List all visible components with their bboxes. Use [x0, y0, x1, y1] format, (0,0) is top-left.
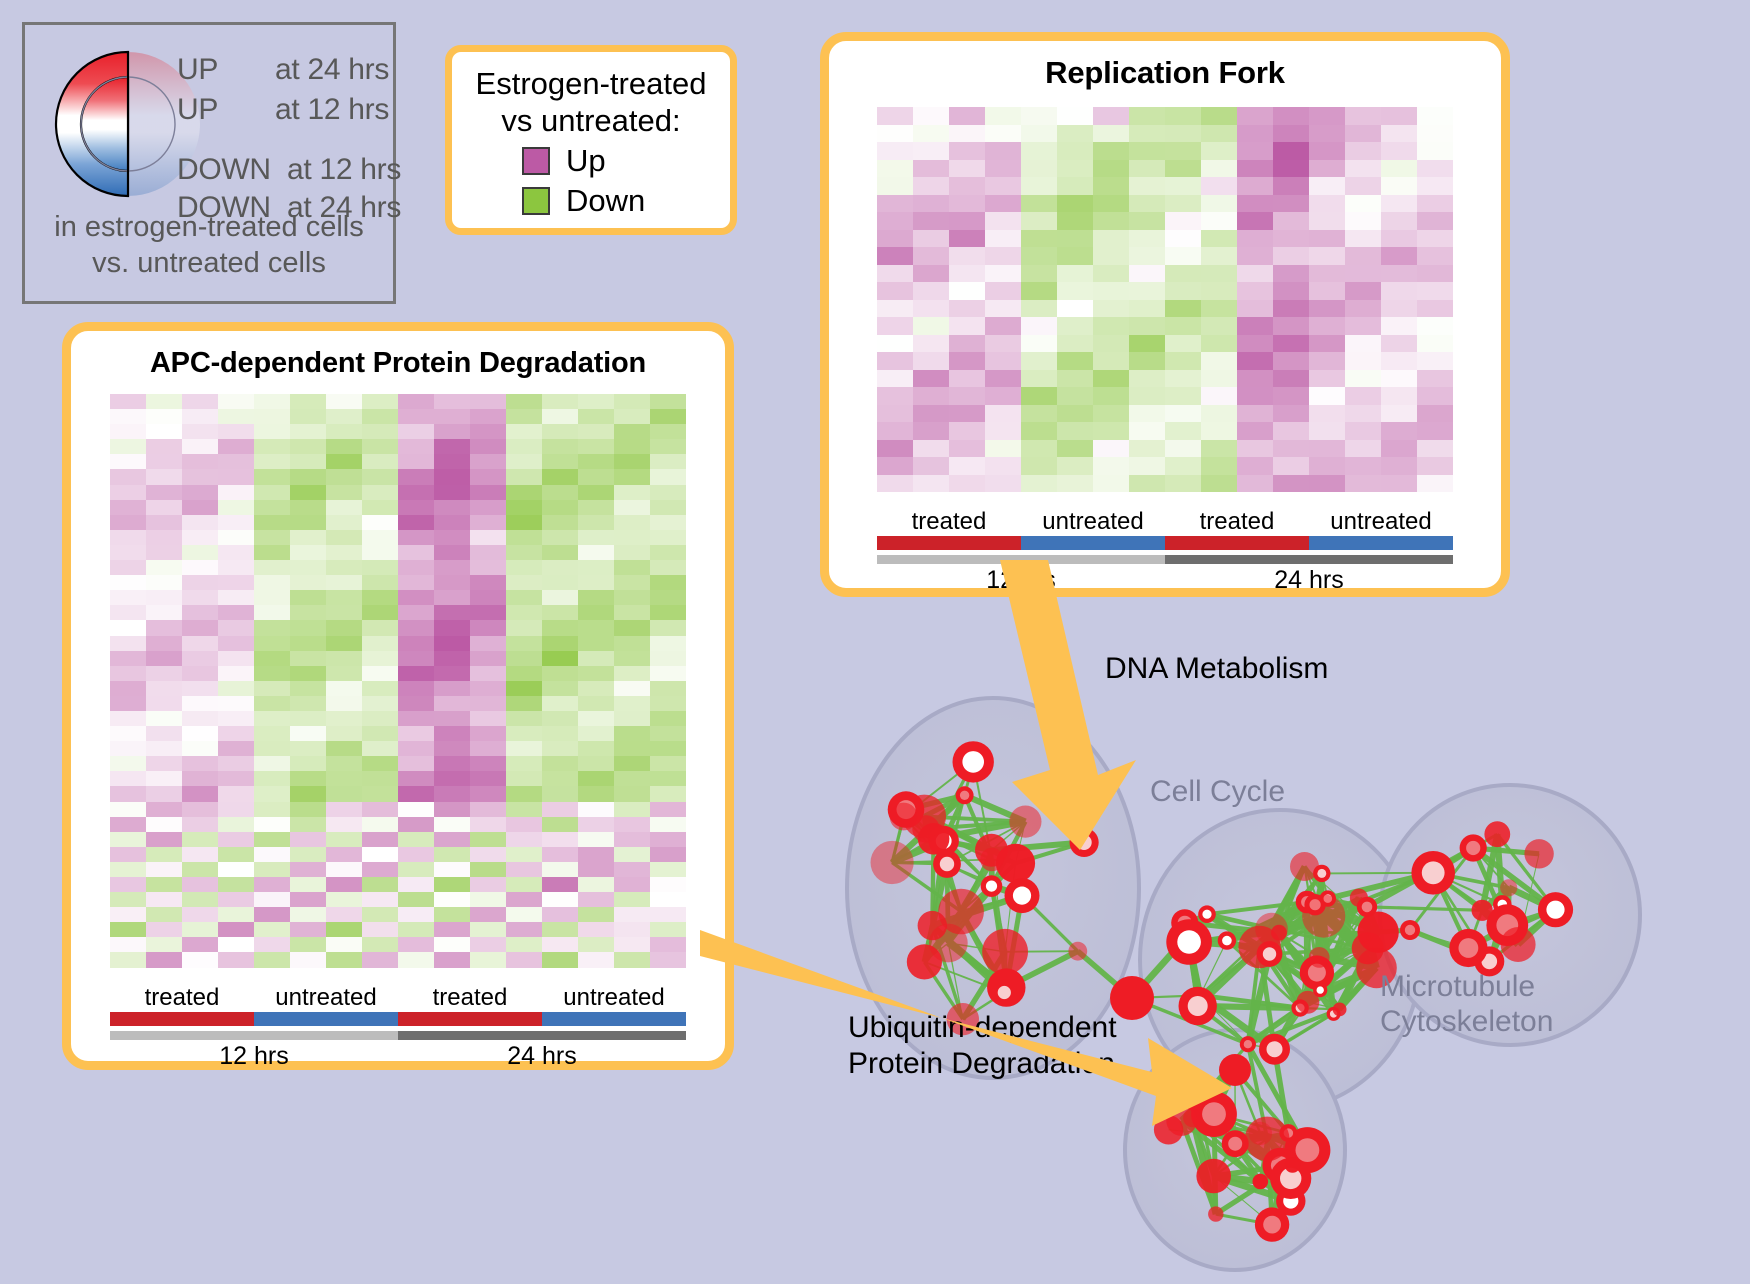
group-bar-untreated-24 — [542, 1012, 686, 1026]
axis-label-treated-24: treated — [1165, 508, 1309, 536]
axis-label-treated-24: treated — [398, 984, 542, 1012]
axis-apc: treated untreated treated untreated 12 h… — [110, 984, 686, 1071]
group-bar-treated-12 — [877, 536, 1021, 550]
legend-swatch-up-icon — [522, 147, 550, 175]
arrow-replication-to-dna-metabolism — [940, 560, 1180, 860]
group-bar-untreated-12 — [254, 1012, 398, 1026]
heatmap-replication-fork — [877, 107, 1453, 492]
time-bar-24hrs — [1165, 555, 1453, 564]
legend-title: Estrogen-treated vs untreated: — [452, 66, 730, 139]
key-time-down-12: at 12 hrs — [287, 153, 401, 187]
group-bar-treated-12 — [110, 1012, 254, 1026]
time-label-12hrs: 12 hrs — [110, 1042, 398, 1071]
group-bar-untreated-24 — [1309, 536, 1453, 550]
legend-swatch-down-icon — [522, 187, 550, 215]
axis-time-bar-apc — [110, 1031, 686, 1040]
key-time-up-24: at 24 hrs — [275, 53, 389, 87]
axis-label-untreated-12: untreated — [1021, 508, 1165, 536]
group-bar-treated-24 — [398, 1012, 542, 1026]
time-label-24hrs: 24 hrs — [398, 1042, 686, 1071]
key-time-up-12: at 12 hrs — [275, 93, 389, 127]
axis-label-treated-12: treated — [110, 984, 254, 1012]
legend-title-line1: Estrogen-treated — [452, 66, 730, 103]
panel-replication-fork: Replication Fork treated untreated treat… — [820, 32, 1510, 597]
key-direction-up-12: UP — [177, 93, 218, 127]
key-direction-down-12: DOWN — [177, 153, 271, 187]
legend-item-down: Down — [522, 183, 730, 219]
legend-label-down: Down — [566, 183, 645, 219]
axis-label-untreated-24: untreated — [542, 984, 686, 1012]
panel-apc-degradation: APC-dependent Protein Degradation treate… — [62, 322, 734, 1070]
cluster-label-microtubule-line2: Cytoskeleton — [1380, 1005, 1553, 1040]
color-key-box: UP at 24 hrs UP at 12 hrs DOWN at 12 hrs… — [22, 22, 396, 304]
legend-label-up: Up — [566, 143, 606, 179]
time-bar-24hrs — [398, 1031, 686, 1040]
panel-title-apc: APC-dependent Protein Degradation — [71, 347, 725, 380]
cluster-label-microtubule: Microtubule Cytoskeleton — [1380, 970, 1553, 1039]
color-key-footer: in estrogen-treated cells vs. untreated … — [25, 209, 393, 282]
axis-label-untreated-12: untreated — [254, 984, 398, 1012]
axis-group-bar-apc — [110, 1012, 686, 1026]
time-label-24hrs: 24 hrs — [1165, 566, 1453, 595]
panel-title-replication-fork: Replication Fork — [829, 55, 1501, 91]
axis-group-labels-apc: treated untreated treated untreated — [110, 984, 686, 1012]
legend-box: Estrogen-treated vs untreated: Up Down — [445, 45, 737, 235]
group-bar-treated-24 — [1165, 536, 1309, 550]
group-bar-untreated-12 — [1021, 536, 1165, 550]
axis-time-labels-apc: 12 hrs 24 hrs — [110, 1042, 686, 1071]
cluster-label-microtubule-line1: Microtubule — [1380, 970, 1553, 1005]
axis-group-bar-replication — [877, 536, 1453, 550]
time-bar-12hrs — [110, 1031, 398, 1040]
axis-label-untreated-24: untreated — [1309, 508, 1453, 536]
axis-label-treated-12: treated — [877, 508, 1021, 536]
color-key-footer-line2: vs. untreated cells — [25, 245, 393, 281]
heatmap-apc — [110, 394, 686, 968]
legend-item-up: Up — [522, 143, 730, 179]
color-key-footer-line1: in estrogen-treated cells — [25, 209, 393, 245]
axis-group-labels-replication: treated untreated treated untreated — [877, 508, 1453, 536]
key-direction-up-24: UP — [177, 53, 218, 87]
legend-title-line2: vs untreated: — [452, 103, 730, 140]
arrow-apc-to-ubiquitin — [700, 930, 1260, 1130]
